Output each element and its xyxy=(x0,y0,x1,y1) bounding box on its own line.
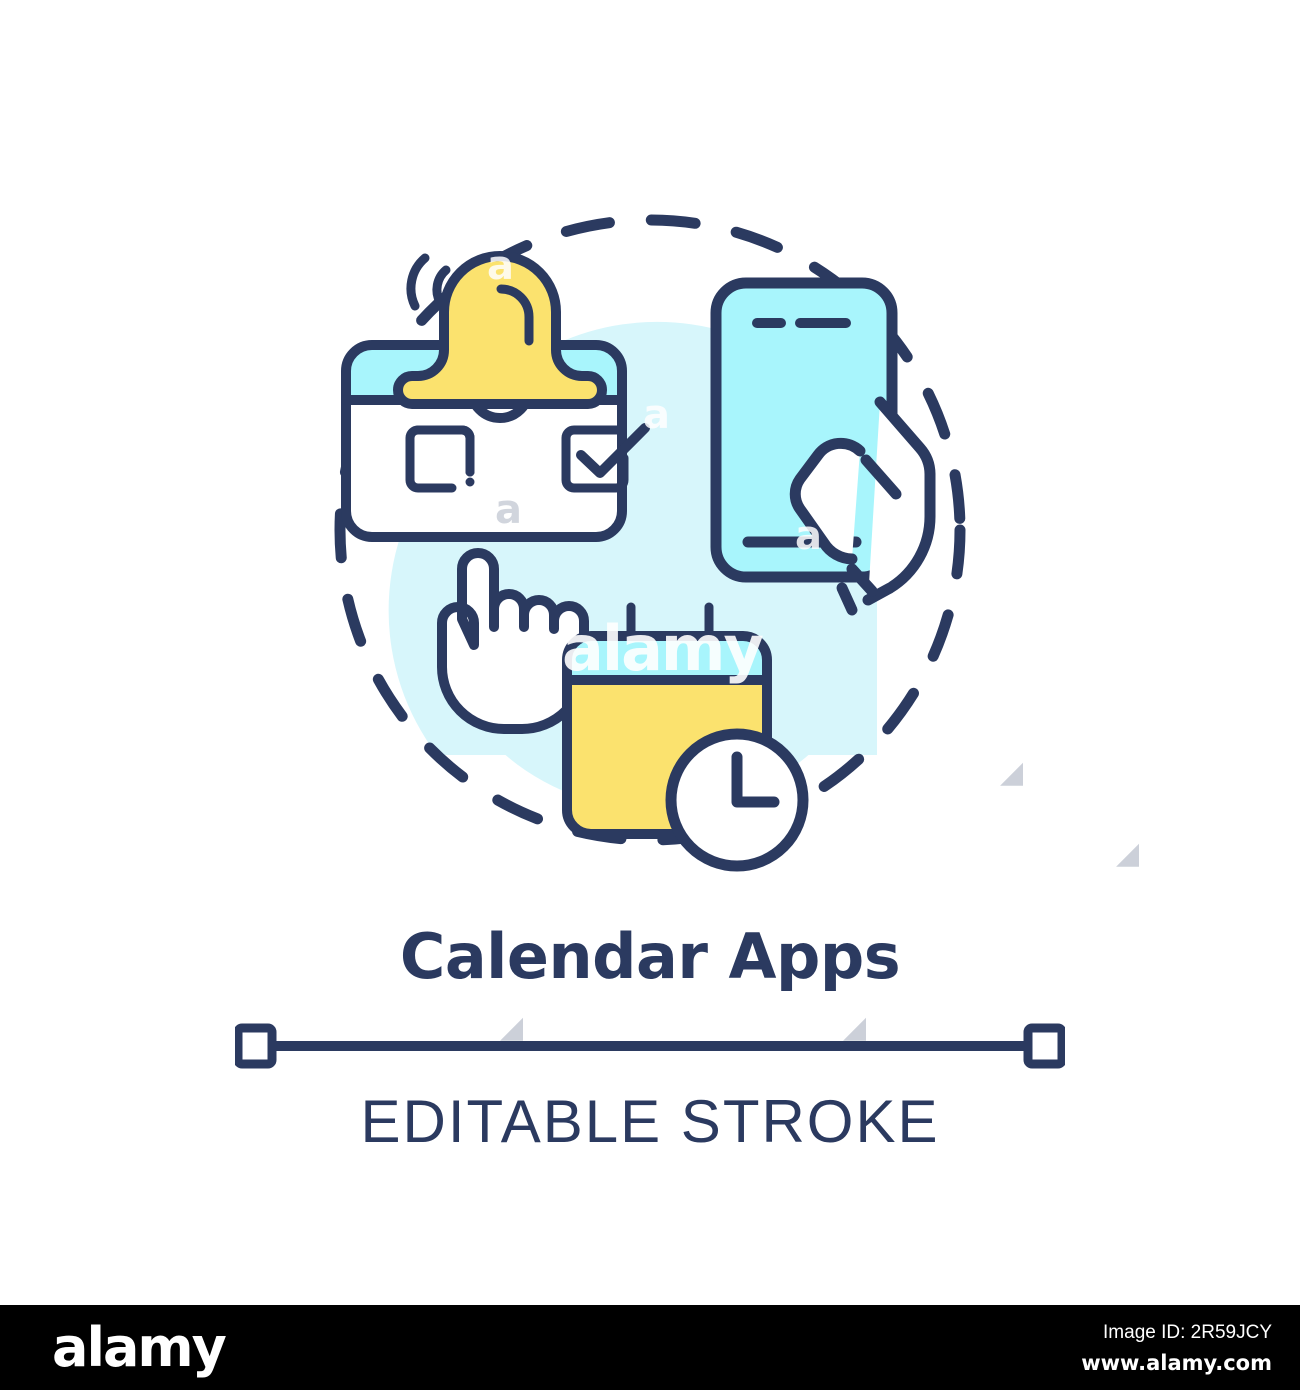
notification-bell xyxy=(398,256,602,418)
alamy-watermark-bar: alamy Image ID: 2R59JCY www.alamy.com xyxy=(0,1305,1300,1390)
image-id-label: Image ID: 2R59JCY xyxy=(1081,1319,1272,1348)
concept-illustration: a a a a alamy xyxy=(0,0,1300,900)
editable-stroke-label: EDITABLE STROKE xyxy=(0,1087,1300,1156)
stock-photo-page: a a a a alamy Calendar Apps EDITABLE STR… xyxy=(0,0,1300,1390)
alamy-logo: alamy xyxy=(52,1321,225,1375)
page-title: Calendar Apps xyxy=(0,900,1300,989)
stroke-divider xyxy=(235,1023,1065,1069)
smartphone xyxy=(716,283,892,577)
footer-meta: Image ID: 2R59JCY www.alamy.com xyxy=(1081,1319,1272,1379)
alamy-url: www.alamy.com xyxy=(1081,1348,1272,1380)
caption-block: Calendar Apps EDITABLE STROKE xyxy=(0,900,1300,1190)
clock-face xyxy=(671,734,803,866)
